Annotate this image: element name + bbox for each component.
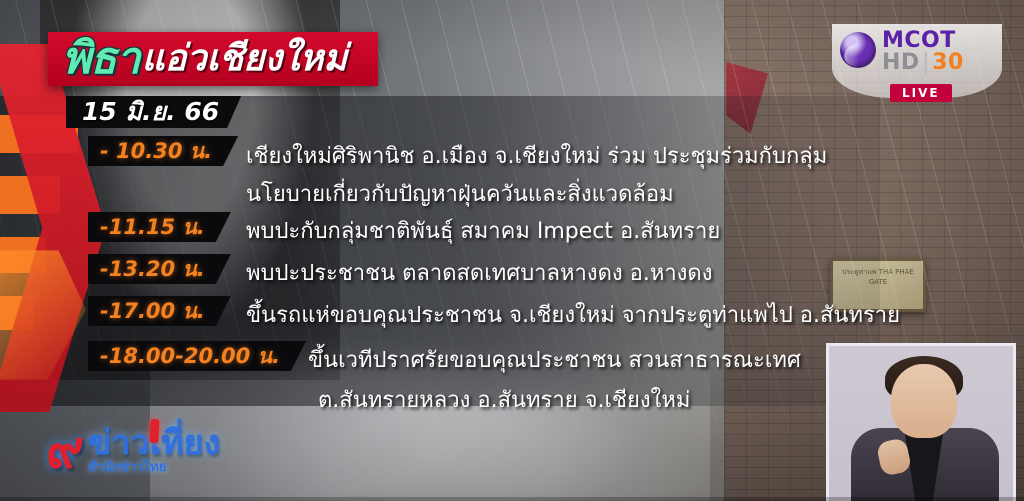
schedule-detail-line: ขึ้นรถแห่ขอบคุณประชาชน จ.เชียงใหม่ จากปร… [246, 297, 900, 332]
schedule-time: -13.20 น. [100, 253, 205, 286]
date-tag: 15 มิ.ย. 66 [66, 96, 241, 128]
headline-title-main: พิธา [62, 37, 140, 81]
schedule-detail-line: พบปะประชาชน ตลาดสดเทศบาลหางดง อ.หางดง [246, 255, 712, 290]
headline-banner: พิธา แอ่วเชียงใหม่ [48, 32, 378, 86]
broadcast-screen: ประตูท่าแพ THA PHAE GATE พิธา แอ่วเชียงใ… [0, 0, 1024, 501]
sign-language-inset [826, 343, 1016, 501]
schedule-detail-line: ขึ้นเวทีปราศรัยขอบคุณประชาชน สวนสาธารณะเ… [308, 342, 801, 377]
schedule-row: -13.20 น. พบปะประชาชน ตลาดสดเทศบาลหางดง … [0, 254, 1024, 294]
schedule-time-tag: -13.20 น. [88, 254, 231, 284]
schedule-row: -17.00 น. ขึ้นรถแห่ขอบคุณประชาชน จ.เชียง… [0, 296, 1024, 339]
schedule-time-tag: -17.00 น. [88, 296, 231, 326]
schedule-time-tag: -11.15 น. [88, 212, 231, 242]
channel-logo-text: MCOT HD|30 [882, 30, 964, 74]
channel-definition: HD|30 [882, 52, 964, 74]
schedule-time: - 10.30 น. [100, 135, 212, 168]
mcot-orb-icon [840, 32, 876, 68]
interpreter-head [891, 364, 957, 438]
channel-name: MCOT [882, 30, 964, 52]
channel-hd-label: HD [882, 50, 920, 75]
schedule-time: -11.15 น. [100, 211, 205, 244]
schedule-time: -18.00-20.00 น. [100, 340, 280, 373]
channel-logo: MCOT HD|30 LIVE [832, 24, 1002, 98]
program-logo-accent [149, 419, 159, 443]
schedule-time-tag: - 10.30 น. [88, 136, 238, 166]
schedule-detail-line: พบปะกับกลุ่มชาติพันธุ์ สมาคม Impect อ.สั… [246, 213, 720, 248]
schedule-detail-line: เชียงใหม่ศิริพานิช อ.เมือง จ.เชียงใหม่ ร… [246, 138, 827, 173]
bottom-edge [0, 497, 1024, 501]
program-logo-numeral: ๙ [46, 424, 84, 476]
schedule-time-tag: -18.00-20.00 น. [88, 341, 306, 371]
live-badge: LIVE [890, 84, 952, 102]
schedule-time: -17.00 น. [100, 295, 205, 328]
schedule-detail-line: ต.สันทรายหลวง อ.สันทราย จ.เชียงใหม่ [318, 382, 690, 417]
schedule-row: -11.15 น. พบปะกับกลุ่มชาติพันธุ์ สมาคม I… [0, 212, 1024, 252]
channel-number: 30 [932, 50, 964, 75]
headline-title-sub: แอ่วเชียงใหม่ [142, 41, 348, 77]
schedule-detail-line: นโยบายเกี่ยวกับปัญหาฝุ่นควันและสิ่งแวดล้… [246, 176, 674, 211]
schedule-row: - 10.30 น. เชียงใหม่ศิริพานิช อ.เมือง จ.… [0, 136, 1024, 210]
date-text: 15 มิ.ย. 66 [82, 92, 219, 132]
channel-divider: | [922, 50, 931, 75]
program-logo: ๙ ข่าวเที่ยง สำนักข่าวไทย [46, 417, 252, 483]
